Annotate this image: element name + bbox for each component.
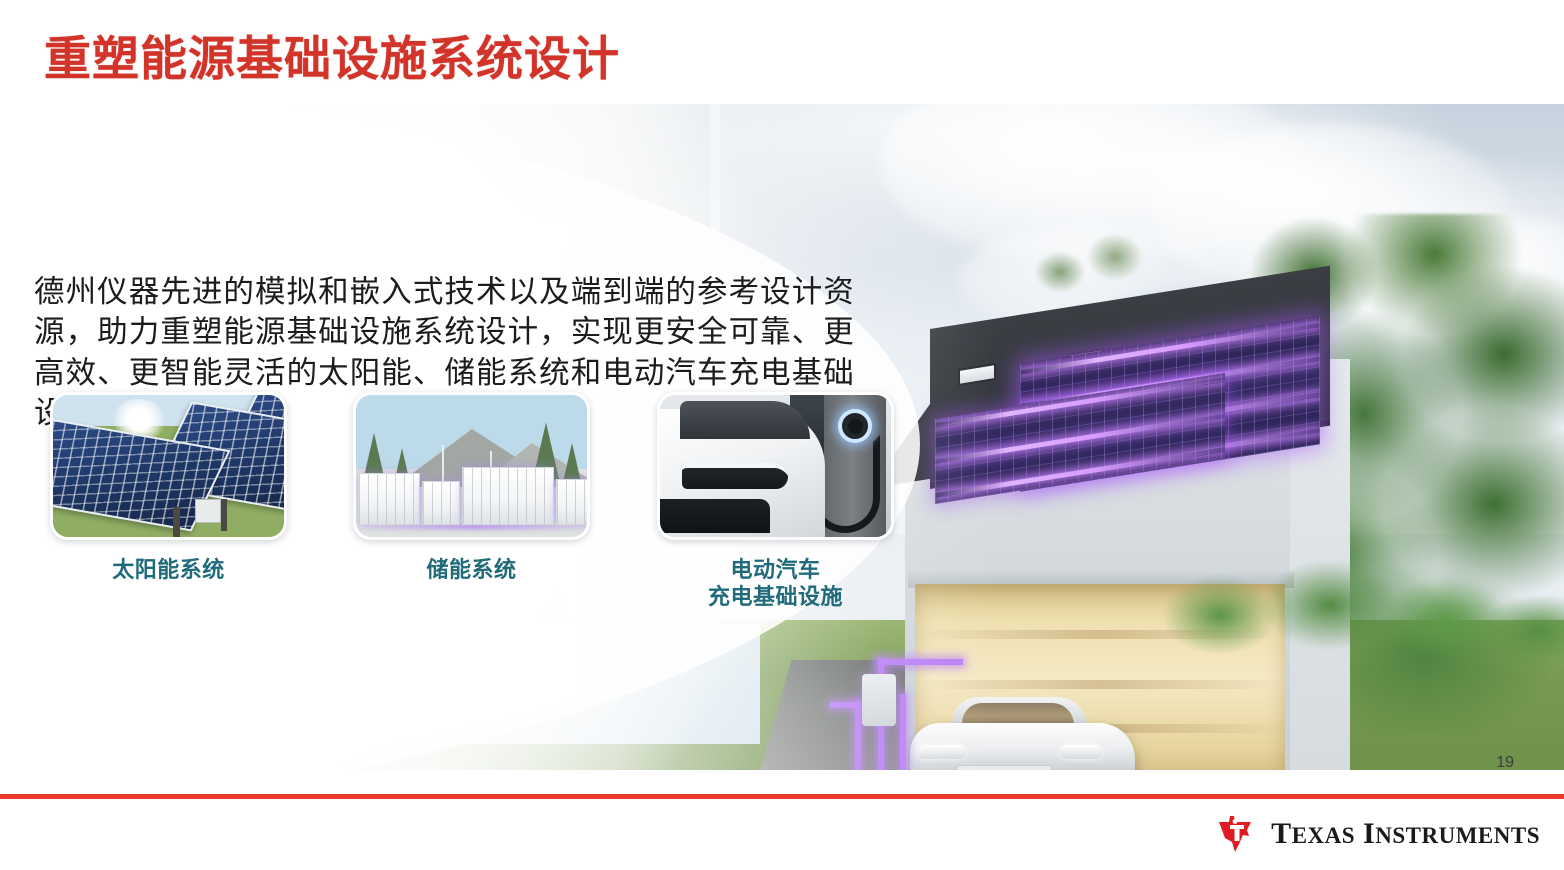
car-headlight [682,463,788,489]
slide-root: 太阳能系统 [0,0,1564,870]
caption-line-2: 充电基础设施 [657,584,894,611]
battery-container [462,467,554,525]
brand-i: I [1363,817,1375,850]
car-windshield [680,401,810,439]
card-storage[interactable]: 储能系统 [353,392,590,584]
battery-container [358,473,420,525]
battery-container [556,479,590,525]
combiner-box [195,499,221,523]
container-ribs [557,480,590,524]
card-ev-charging[interactable]: 电动汽车 充电基础设施 [657,392,894,611]
card-caption-solar: 太阳能系统 [50,557,287,584]
ti-texas-shape-icon [1213,812,1257,856]
battery-storage-image[interactable] [353,392,590,540]
card-caption-ev: 电动汽车 充电基础设施 [657,557,894,611]
brand-t: T [1271,817,1292,850]
mounting-post [173,507,180,537]
container-ribs [359,474,419,524]
page-number: 19 [1496,754,1514,772]
caption-line-1: 太阳能系统 [50,557,287,584]
background-scene: 太阳能系统 [0,104,1564,770]
mounting-post [221,499,227,531]
charge-plug [848,419,863,434]
caption-line-1: 电动汽车 [657,557,894,584]
brand-nstruments: NSTRUMENTS [1375,823,1540,848]
ti-wordmark: TEXAS INSTRUMENTS [1271,817,1540,851]
caption-line-1: 储能系统 [353,557,590,584]
card-caption-storage: 储能系统 [353,557,590,584]
ev-charging-image[interactable] [657,392,894,540]
footer-divider [0,794,1564,799]
card-solar[interactable]: 太阳能系统 [50,392,287,584]
texas-instruments-logo: TEXAS INSTRUMENTS [1213,812,1540,856]
container-ribs [463,468,553,524]
brand-exas: EXAS [1292,823,1355,848]
solar-panel-farm-image[interactable] [50,392,287,540]
car-bumper [657,499,770,533]
page-title: 重塑能源基础设施系统设计 [44,20,620,89]
title-bar: 重塑能源基础设施系统设计 [0,0,1564,104]
battery-container [422,481,460,525]
container-ribs [423,482,459,524]
thumbnail-row: 太阳能系统 [0,104,1564,770]
footer: 19 TEXAS INSTRUMENTS [0,770,1564,870]
